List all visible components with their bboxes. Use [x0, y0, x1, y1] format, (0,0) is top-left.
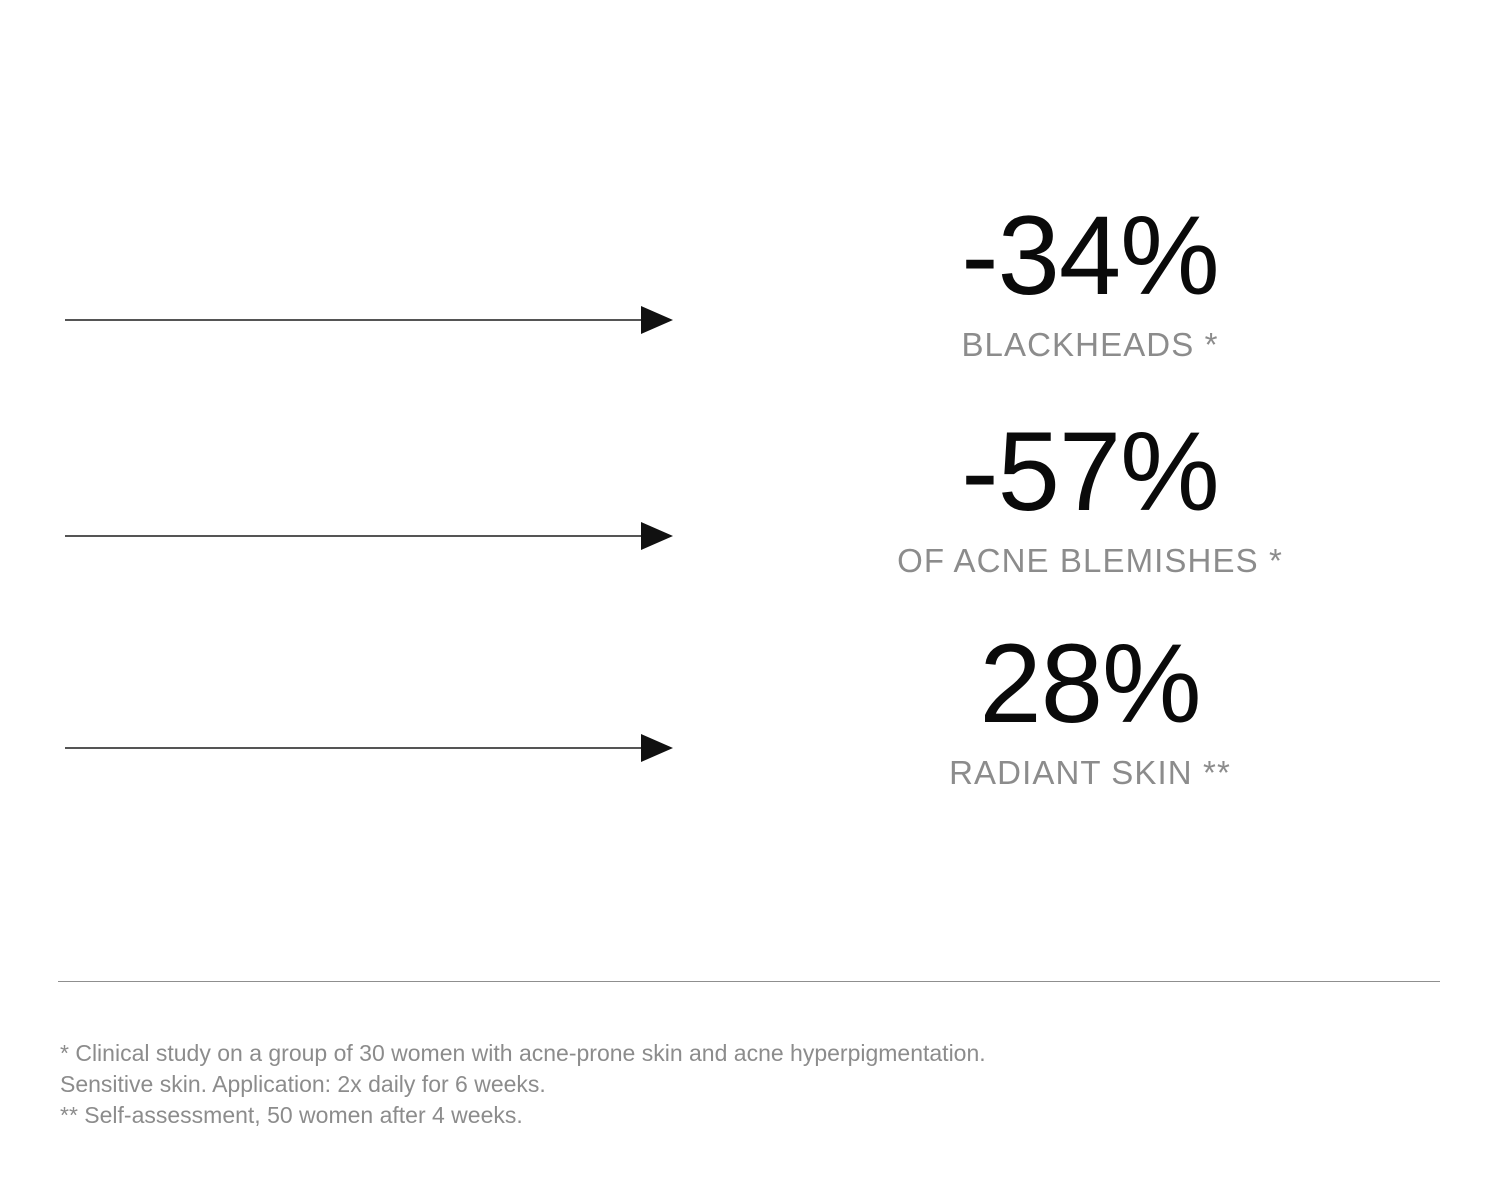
- arrow-row-acne-blemishes: [65, 516, 673, 556]
- arrow-row-radiant-skin: [65, 728, 673, 768]
- arrow-right-icon: [65, 300, 673, 340]
- stat-value-radiant-skin: 28%: [790, 628, 1390, 740]
- claims-infographic: -34% BLACKHEADS * -57% OF ACNE BLEMISHES…: [0, 0, 1500, 1202]
- arrow-right-icon: [65, 516, 673, 556]
- stat-block-acne-blemishes: -57% OF ACNE BLEMISHES *: [790, 416, 1390, 577]
- stat-label-blackheads: BLACKHEADS *: [790, 328, 1390, 361]
- stat-block-blackheads: -34% BLACKHEADS *: [790, 200, 1390, 361]
- footnote-line-2: Sensitive skin. Application: 2x daily fo…: [60, 1069, 1260, 1100]
- footnotes: * Clinical study on a group of 30 women …: [60, 1038, 1260, 1131]
- footnote-line-1: * Clinical study on a group of 30 women …: [60, 1038, 1260, 1069]
- arrow-row-blackheads: [65, 300, 673, 340]
- footnote-line-3: ** Self-assessment, 50 women after 4 wee…: [60, 1100, 1260, 1131]
- stat-label-radiant-skin: RADIANT SKIN **: [790, 756, 1390, 789]
- stat-value-blackheads: -34%: [790, 200, 1390, 312]
- stat-label-acne-blemishes: OF ACNE BLEMISHES *: [790, 544, 1390, 577]
- stat-value-acne-blemishes: -57%: [790, 416, 1390, 528]
- footnote-divider: [58, 981, 1440, 982]
- stat-block-radiant-skin: 28% RADIANT SKIN **: [790, 628, 1390, 789]
- arrow-right-icon: [65, 728, 673, 768]
